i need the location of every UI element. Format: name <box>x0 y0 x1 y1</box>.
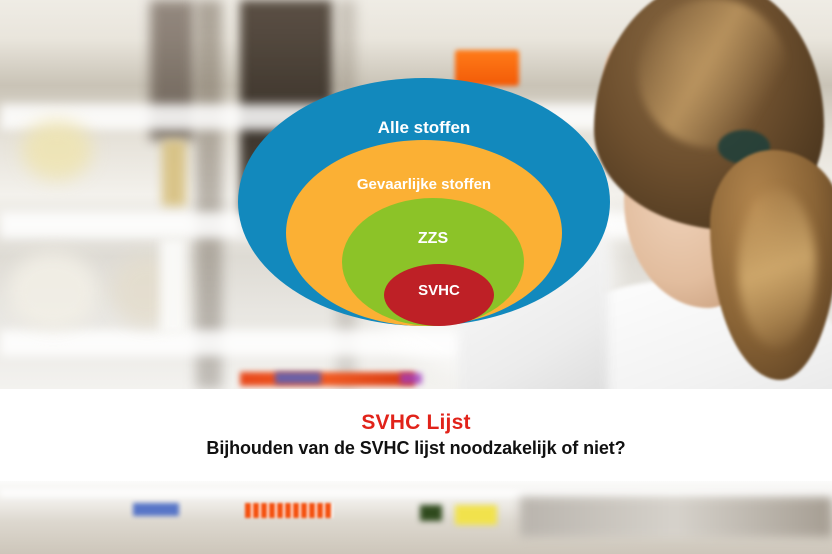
caption-band: SVHC Lijst Bijhouden van de SVHC lijst n… <box>0 389 832 481</box>
lab-shelf-board-bottom <box>0 489 832 497</box>
caption-title: SVHC Lijst <box>361 411 470 435</box>
substance-category-diagram: Alle stoffen Gevaarlijke stoffen ZZS SVH… <box>238 78 610 326</box>
lab-bottle-white <box>160 238 186 334</box>
ellipse-label-gevaarlijke-stoffen: Gevaarlijke stoffen <box>357 176 491 193</box>
lab-blue-rack <box>275 372 321 384</box>
photo-layer-bottom <box>0 481 832 554</box>
ponytail-highlight <box>738 188 816 348</box>
hair-highlight <box>638 0 788 148</box>
lab-blue-rack-bottom <box>133 503 179 516</box>
hero-photo-top: Alle stoffen Gevaarlijke stoffen ZZS SVH… <box>0 0 832 389</box>
hero-photo-bottom <box>0 481 832 554</box>
lab-red-rack <box>240 372 415 386</box>
slide-canvas: Alle stoffen Gevaarlijke stoffen ZZS SVH… <box>0 0 832 554</box>
lab-glassware-1 <box>22 120 92 180</box>
ellipse-svhc: SVHC <box>384 264 494 326</box>
lab-glassware-2 <box>8 252 98 330</box>
ellipse-label-alle-stoffen: Alle stoffen <box>378 118 471 138</box>
ellipse-label-zzs: ZZS <box>418 230 448 248</box>
lab-green-accent-bottom <box>420 505 442 521</box>
lab-yellow-accent-bottom <box>455 505 497 525</box>
ellipse-label-svhc: SVHC <box>418 282 460 299</box>
lab-bottle-amber <box>162 140 186 206</box>
lab-purple-accent <box>400 373 422 384</box>
lab-orange-rack-bottom <box>245 503 333 518</box>
caption-subtitle: Bijhouden van de SVHC lijst noodzakelijk… <box>206 438 625 459</box>
lab-bench-right-bottom <box>520 497 832 537</box>
